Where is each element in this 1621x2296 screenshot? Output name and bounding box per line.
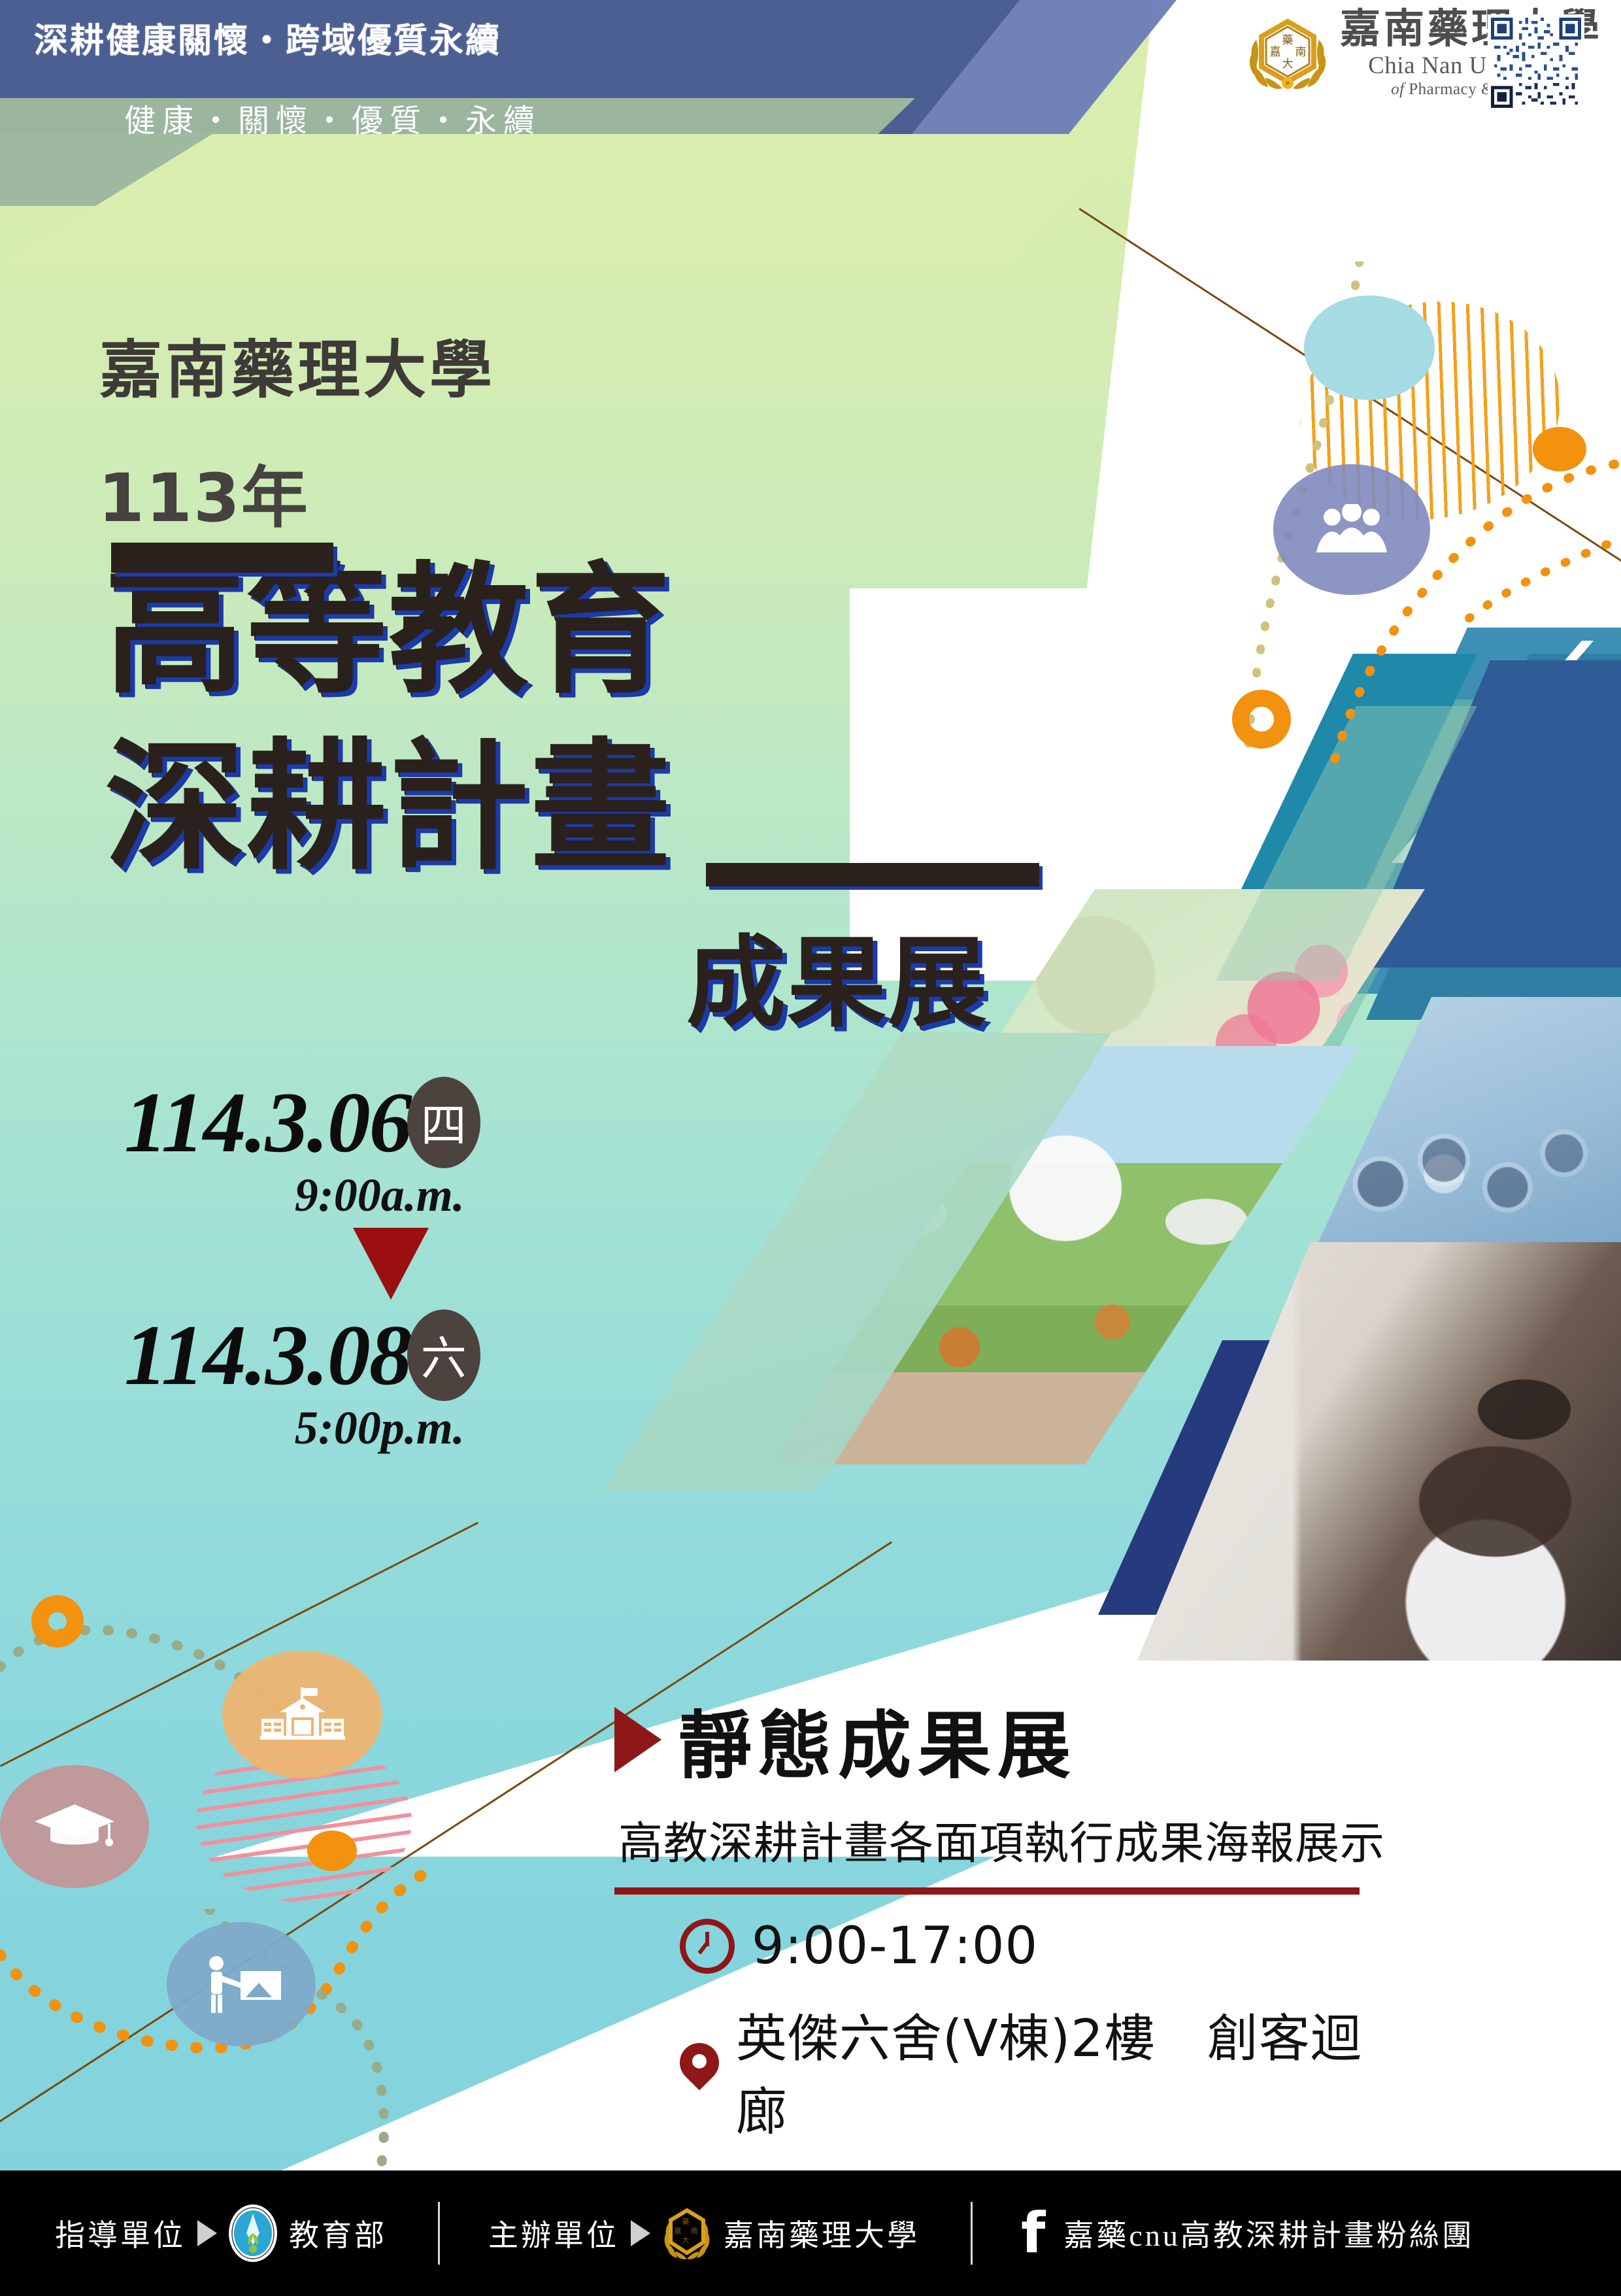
decor-circle-orange-lower: [307, 1831, 357, 1871]
time-end: 5:00p.m.: [124, 1401, 480, 1455]
school-building-icon: [260, 1686, 345, 1744]
date-end-weekday: 六: [407, 1309, 480, 1401]
ministry-of-education-icon: [229, 2204, 277, 2262]
footer-organizer: 主辦單位 藥: [488, 2206, 920, 2261]
banner-slogan-sub: 健康・關懷・優質・永續: [124, 95, 541, 141]
poster-root: 深耕健康關懷・跨域優質永續 健康・關懷・優質・永續 藥: [0, 0, 1621, 2296]
date-end-row: 114.3.08 六: [124, 1305, 480, 1405]
event-location: 英傑六舍(V棟)2樓 創客迴廊: [736, 1998, 1412, 2144]
facebook-icon: f: [1021, 2211, 1048, 2256]
footer-organizer-arrow-icon: [631, 2220, 650, 2246]
svg-text:大: 大: [682, 2235, 692, 2244]
teacher-icon-circle: [167, 1922, 316, 2046]
event-heading: 靜態成果展: [614, 1687, 1412, 1793]
map-pin-icon: [680, 2043, 719, 2099]
decor-circle-cyan: [1304, 295, 1435, 400]
svg-text:大: 大: [1282, 58, 1293, 70]
footer-divider-1: [438, 2202, 440, 2265]
event-info-block: 靜態成果展 高教深耕計畫各面項執行成果海報展示 9:00-17:00 英傑六舍(…: [614, 1687, 1412, 2144]
svg-text:嘉: 嘉: [1269, 46, 1280, 58]
people-icon: [1312, 504, 1391, 555]
footer-facebook-name: 嘉藥cnu高教深耕計畫粉絲團: [1063, 2212, 1474, 2255]
event-location-row: 英傑六舍(V棟)2樓 創客迴廊: [680, 1998, 1412, 2144]
headline-dash-left: [111, 543, 333, 573]
time-start: 9:00a.m.: [124, 1168, 480, 1223]
banner-slogan-main: 深耕健康關懷・跨域優質永續: [34, 13, 501, 62]
qr-code-matrix: [1491, 18, 1581, 108]
footer-bar: 指導單位 教育部 主辦單位: [0, 2170, 1621, 2296]
footer-divider-2: [971, 2202, 973, 2265]
date-start-row: 114.3.06 四: [124, 1072, 480, 1172]
svg-text:藥: 藥: [1282, 34, 1293, 46]
date-end: 114.3.08: [124, 1305, 411, 1405]
footer-facebook[interactable]: f 嘉藥cnu高教深耕計畫粉絲團: [1021, 2211, 1475, 2256]
date-start: 114.3.06: [124, 1072, 411, 1172]
svg-text:南: 南: [1295, 46, 1306, 58]
footer-advisor: 指導單位 教育部: [55, 2204, 387, 2262]
date-range-arrow-icon: [353, 1228, 429, 1300]
footer-organizer-label: 主辦單位: [488, 2212, 619, 2255]
headline-title-line3: 成果展: [686, 902, 988, 1046]
event-divider: [614, 1887, 1360, 1895]
headline-title-line2: 深耕計畫: [105, 693, 672, 896]
svg-text:南: 南: [691, 2227, 701, 2235]
decor-circle-orange-solid: [1533, 427, 1586, 471]
svg-text:嘉: 嘉: [675, 2226, 684, 2235]
date-start-weekday: 四: [407, 1077, 480, 1168]
footer-advisor-arrow-icon: [197, 2220, 217, 2246]
clock-icon: [680, 1919, 735, 1974]
triangle-bullet-icon: [614, 1707, 661, 1772]
qr-code-icon[interactable]: [1488, 14, 1584, 111]
svg-text:藥: 藥: [682, 2218, 692, 2226]
date-range: 114.3.06 四 9:00a.m. 114.3.08 六 5:00p.m.: [124, 1072, 480, 1455]
footer-advisor-label: 指導單位: [55, 2212, 186, 2255]
footer-organizer-name: 嘉南藥理大學: [724, 2212, 920, 2255]
event-title: 靜態成果展: [678, 1687, 1077, 1793]
graduation-icon-circle: [0, 1765, 149, 1888]
decor-ring-orange-right: [1232, 690, 1291, 749]
graduation-cap-icon: [32, 1802, 117, 1851]
footer-advisor-name: 教育部: [289, 2212, 387, 2255]
headline-dash-right: [706, 863, 1039, 886]
school-icon-circle: [222, 1651, 382, 1778]
event-subtitle: 高教深耕計畫各面項執行成果海報展示: [618, 1807, 1412, 1872]
footer-university-crest-icon: 藥 嘉 南 大: [662, 2206, 712, 2261]
logo-name-en-of: of: [1391, 80, 1404, 98]
headline-university: 嘉南藥理大學: [99, 319, 495, 410]
event-time-row: 9:00-17:00: [680, 1917, 1412, 1976]
teacher-presenting-icon: [199, 1954, 284, 2014]
people-icon-circle: [1273, 464, 1430, 595]
university-crest-icon: 藥 嘉 南 大: [1246, 15, 1329, 92]
event-time: 9:00-17:00: [752, 1917, 1038, 1976]
decor-ring-orange-lower-left: [31, 1595, 84, 1647]
